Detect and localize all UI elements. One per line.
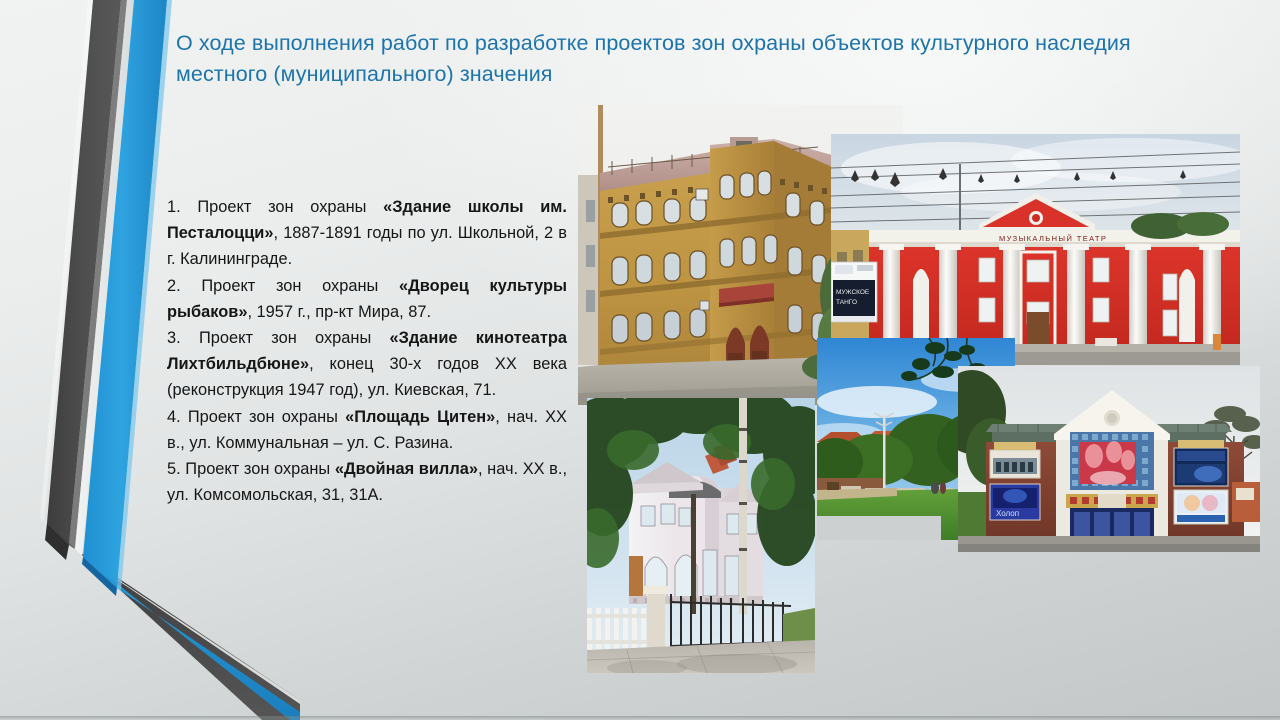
poster-right-bottom xyxy=(1174,490,1228,524)
item-number: 3. xyxy=(167,329,199,347)
list-item-2: 2. Проект зон охраны «Дворец культуры ры… xyxy=(167,273,567,325)
item-lead: Проект зон охраны xyxy=(197,198,383,216)
photo-theatre: МУЗЫКАЛЬНЫЙ ТЕАТР xyxy=(831,134,1240,365)
item-number: 4. xyxy=(167,408,188,426)
poster-left-bottom: Холоп xyxy=(990,484,1040,520)
theatre-sign-text: МУЗЫКАЛЬНЫЙ ТЕАТР xyxy=(999,234,1107,243)
list-item-1: 1. Проект зон охраны «Здание школы им. П… xyxy=(167,194,567,273)
slide: О ходе выполнения работ по разработке пр… xyxy=(0,0,1280,720)
svg-text:МУЖСКОЕ: МУЖСКОЕ xyxy=(836,289,870,296)
poster-right-top xyxy=(1174,448,1228,486)
item-tail: , 1957 г., пр-кт Мира, 87. xyxy=(247,303,431,321)
project-list: 1. Проект зон охраны «Здание школы им. П… xyxy=(167,194,567,508)
item-lead: Проект зон охраны xyxy=(199,329,390,347)
poster-left-top xyxy=(990,450,1040,478)
item-lead: Проект зон охраны xyxy=(185,460,335,478)
theatre-banner: МУЖСКОЕ ТАНГО xyxy=(831,262,877,322)
item-name: «Двойная вилла» xyxy=(335,460,478,478)
page-title: О ходе выполнения работ по разработке пр… xyxy=(176,28,1138,90)
svg-text:Холоп: Холоп xyxy=(996,509,1019,518)
photo-villa xyxy=(587,398,815,673)
svg-text:ТАНГО: ТАНГО xyxy=(836,299,857,306)
item-lead: Проект зон охраны xyxy=(201,277,399,295)
list-item-5: 5. Проект зон охраны «Двойная вилла», на… xyxy=(167,456,567,508)
photo-cinema: Холоп xyxy=(958,366,1260,552)
item-name: «Площадь Цитен» xyxy=(345,408,495,426)
item-number: 5. xyxy=(167,460,185,478)
item-number: 1. xyxy=(167,198,197,216)
slide-bottom-edge xyxy=(0,716,1280,720)
item-lead: Проект зон охраны xyxy=(188,408,345,426)
list-item-3: 3. Проект зон охраны «Здание кинотеатра … xyxy=(167,325,567,404)
item-number: 2. xyxy=(167,277,201,295)
list-item-4: 4. Проект зон охраны «Площадь Цитен», на… xyxy=(167,404,567,456)
